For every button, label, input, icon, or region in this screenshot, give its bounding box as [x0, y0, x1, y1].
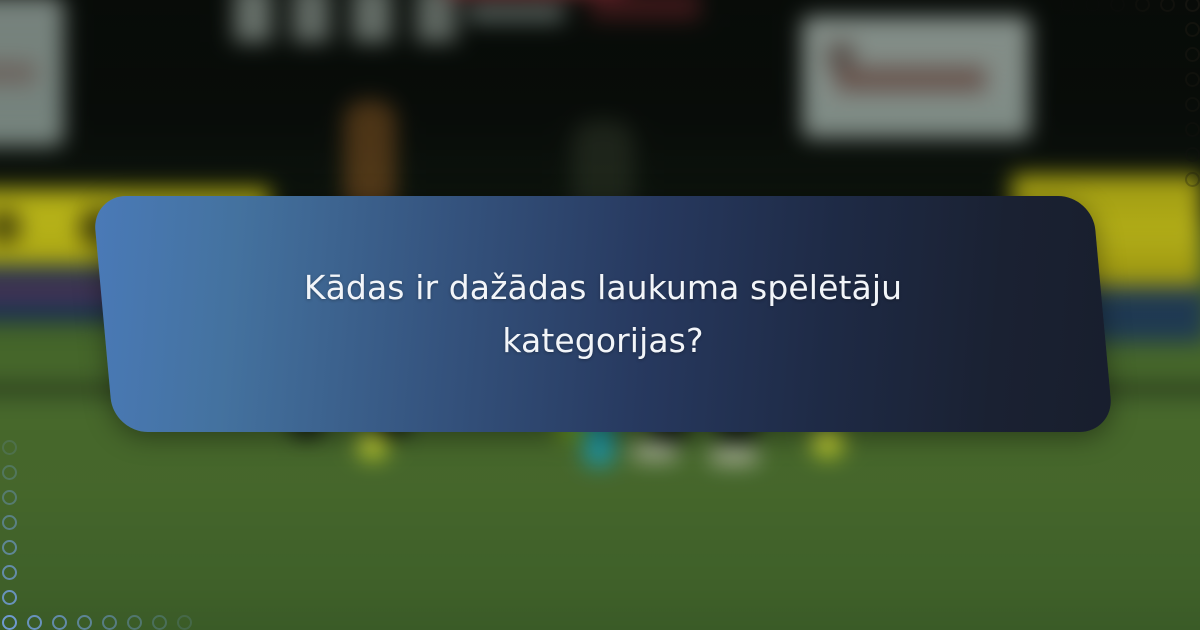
- question-card: Kādas ir dažādas laukuma spēlētāju kateg…: [103, 196, 1103, 432]
- signage-strip: [468, 4, 564, 22]
- question-text: Kādas ir dažādas laukuma spēlētāju kateg…: [213, 261, 993, 368]
- banner-red-secondary: [590, 0, 700, 20]
- question-card-content: Kādas ir dažādas laukuma spēlētāju kateg…: [103, 196, 1103, 432]
- screenshot-canvas: Kādas ir dažādas laukuma spēlētāju kateg…: [0, 0, 1200, 630]
- signage-placard-left: [0, 0, 64, 146]
- player-shoe-a: [632, 442, 678, 460]
- signage-placard-right: [802, 16, 1030, 138]
- signage-letters: [230, 0, 500, 42]
- player-shoe-b: [710, 446, 758, 464]
- tennis-ball-left: [358, 430, 388, 460]
